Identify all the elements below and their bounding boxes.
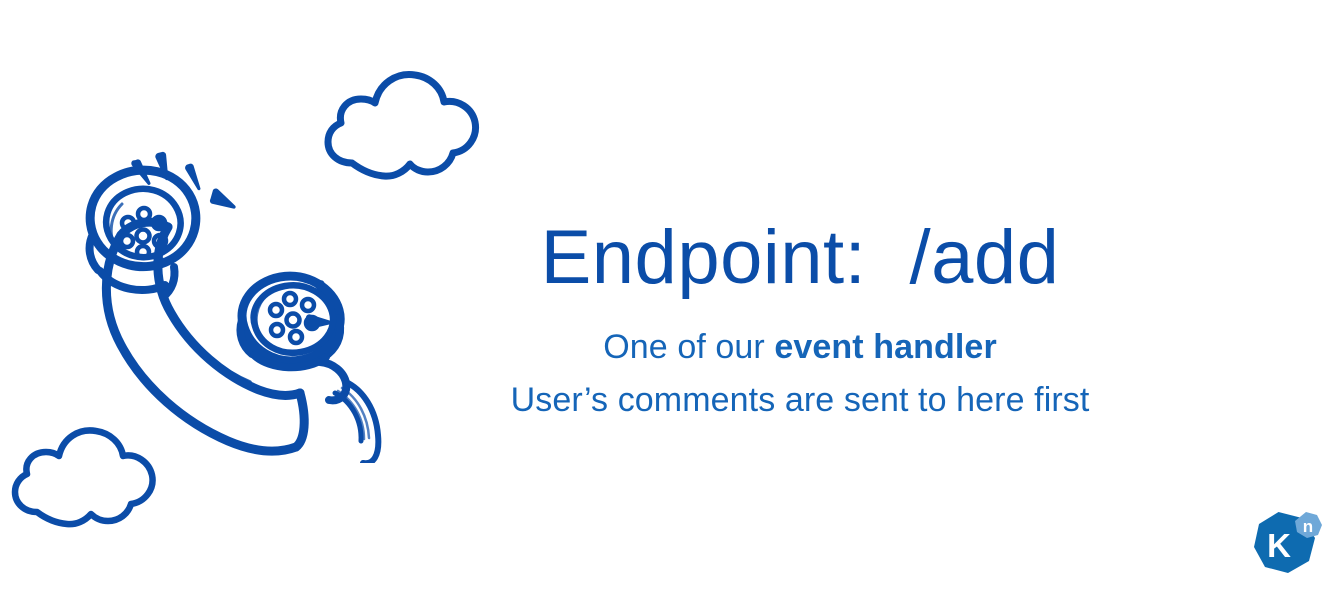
knative-mark-letter: K [1267,527,1291,564]
cloud-icon [316,66,488,182]
subtitle-line-1: One of our event handler [430,321,1170,375]
subtitle-line-1-emphasis: event handler [774,328,996,366]
page-title: Endpoint: /add [430,218,1170,299]
subtitle-line-2: User’s comments are sent to here first [430,374,1170,428]
subtitle-group: One of our event handler User’s comments… [430,321,1170,428]
telephone-handset-icon [58,138,388,463]
slide-canvas: Endpoint: /add One of our event handler … [0,0,1343,595]
knative-badge-letter: n [1303,517,1313,536]
slide-text-block: Endpoint: /add One of our event handler … [430,218,1170,428]
knative-logo: K n [1247,506,1325,582]
cloud-icon [4,424,164,530]
subtitle-line-1-prefix: One of our [603,328,774,366]
